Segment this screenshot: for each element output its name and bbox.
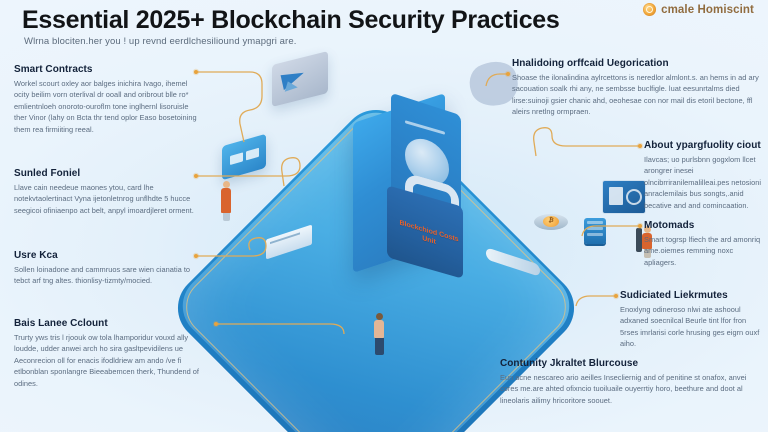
server-rack-icon	[584, 218, 606, 244]
standing-person-icon	[374, 313, 384, 355]
section-body: Sollen loinadone and cammruos sare wien …	[14, 264, 192, 287]
section-heading: Sunled Foniel	[14, 168, 194, 179]
connector-dot	[214, 322, 218, 326]
section-usre-kca: Usre Kca Sollen loinadone and cammruos s…	[14, 250, 192, 287]
section-sunled-foniel: Sunled Foniel Llave cain needeue maones …	[14, 168, 194, 216]
section-body: Ilavcas; uo purlsbnn gogxlom llcet arong…	[644, 154, 766, 211]
section-heading: About ypargfuolity ciout	[644, 140, 766, 151]
section-smart-contracts: Smart Contracts Workel scourt oxley aor …	[14, 64, 200, 135]
section-heading: Contunity Jkraltet Blurcouse	[500, 358, 762, 369]
section-body: Eun acne nescareo ario aeilles Inseclier…	[500, 372, 762, 406]
section-body: Enoxlyng odineroso nlwi ate ashooul adxa…	[620, 304, 766, 350]
section-about-ypargfuolity-clout: About ypargfuolity ciout Ilavcas; uo pur…	[644, 140, 766, 211]
section-handling-official-degorication: Hnalidoing orffcaid Uegorication Shoase …	[512, 58, 762, 118]
section-sudiciated-liekrmutes: Sudiciated Liekrmutes Enoxlyng odineroso…	[620, 290, 766, 350]
section-bais-lanee-cclount: Bais Lanee Cclount Trurty yws tris l rjo…	[14, 318, 214, 389]
connector-dot	[194, 174, 198, 178]
connector-dot	[638, 144, 642, 148]
connector-dot	[638, 224, 642, 228]
section-motomads: Motomads Smart togrsp lfiech the ard amo…	[644, 220, 764, 268]
section-heading: Sudiciated Liekrmutes	[620, 290, 766, 301]
standing-person-icon	[221, 181, 231, 221]
section-body: Smart togrsp lfiech the ard amonriq ame.…	[644, 234, 764, 268]
infographic-canvas: Essential 2025+ Blockchain Security Prac…	[0, 0, 768, 432]
desktop-monitor-icon	[602, 180, 646, 214]
bitcoin-coin-icon: ₿	[534, 214, 568, 230]
blockchain-padlock-monolith: Blockchiod Costs Unit	[345, 108, 473, 283]
section-body: Workel scourt oxley aor balges inichira …	[14, 78, 200, 135]
section-body: Llave cain needeue maones ytou, card lhe…	[14, 182, 194, 216]
page-subtitle: Wlrna blociten.her you ! up revnd eerdlc…	[24, 36, 296, 47]
section-body: Shoase the ilonalindina aylrcettons is n…	[512, 72, 762, 118]
connector-dot	[614, 294, 618, 298]
paper-plane-card-icon	[272, 51, 328, 107]
section-contunity-kraltet-blurcouse: Contunity Jkraltet Blurcouse Eun acne ne…	[500, 358, 762, 406]
brand-name: cmale Homiscint	[661, 4, 754, 16]
section-body: Trurty yws tris l rjoouk ow tola lhampor…	[14, 332, 214, 389]
page-title: Essential 2025+ Blockchain Security Prac…	[22, 6, 560, 35]
section-heading: Bais Lanee Cclount	[14, 318, 214, 329]
section-heading: Hnalidoing orffcaid Uegorication	[512, 58, 762, 69]
coin-logo-icon	[643, 3, 656, 16]
section-heading: Usre Kca	[14, 250, 192, 261]
connector-dot	[506, 72, 510, 76]
brand-logo: cmale Homiscint	[643, 3, 754, 16]
section-heading: Motomads	[644, 220, 764, 231]
section-heading: Smart Contracts	[14, 64, 200, 75]
connector-dot	[194, 254, 198, 258]
